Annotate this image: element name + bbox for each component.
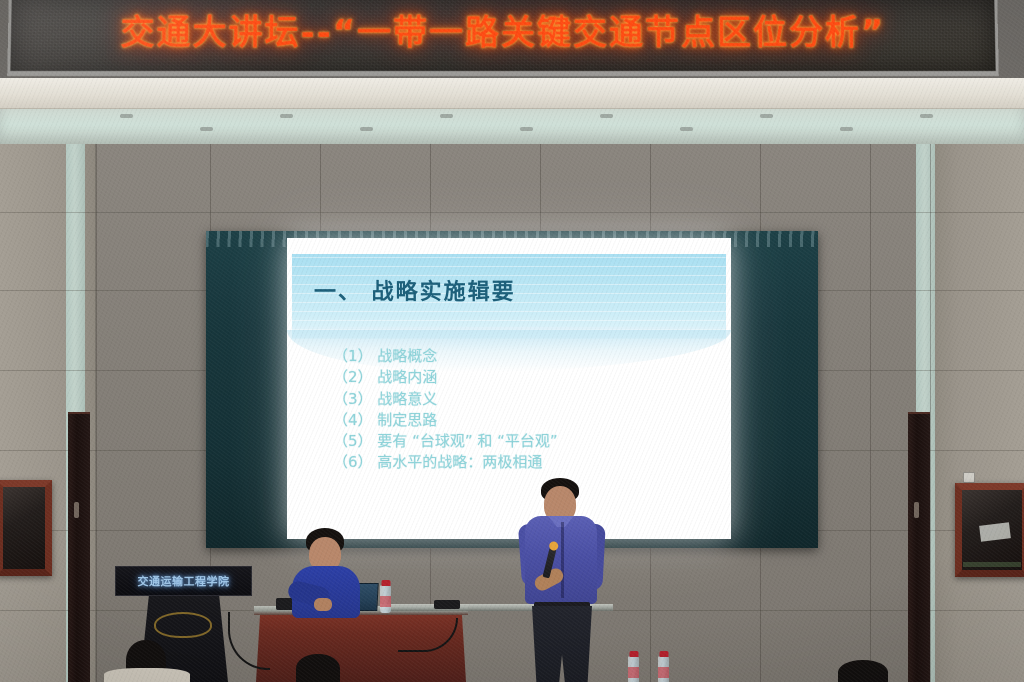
case-shelf-right (963, 562, 1021, 567)
podium-sign-text: 交通运输工程学院 (116, 567, 251, 595)
door-right[interactable] (908, 412, 930, 682)
door-handle-right-icon (914, 502, 919, 518)
slide-bullet: （4） 制定思路 (333, 410, 721, 431)
wall-seam-vertical (930, 142, 931, 682)
wall-display-case-right (955, 483, 1024, 577)
slide-bullet-list: （1） 战略概念（2） 战略内涵（3） 战略意义（4） 制定思路（5） 要有 “… (333, 346, 721, 474)
ceiling-light (760, 114, 773, 118)
slide-bullet: （3） 战略意义 (333, 389, 721, 410)
wall-seam-vertical (870, 142, 871, 682)
wall-seam-vertical (96, 142, 97, 682)
audience-head-2 (296, 654, 340, 682)
bottle-label (628, 667, 639, 678)
ceiling-light (120, 114, 133, 118)
ceiling-light (440, 114, 453, 118)
wall-display-case-left (0, 480, 52, 576)
ceiling-light (920, 114, 933, 118)
bottle-cap-icon (629, 651, 638, 657)
ceiling-light (200, 127, 213, 131)
water-bottle-floor-b (658, 656, 669, 682)
slide-bullet: （6） 高水平的战略：两极相通 (333, 452, 721, 473)
bottle-label (658, 667, 669, 678)
slide-bullet: （5） 要有 “台球观” 和 “平台观” (333, 431, 721, 452)
case-glass-left (3, 487, 45, 569)
led-banner-text: 交通大讲坛--“一带一路关键交通节点区位分析” (11, 5, 996, 54)
speaker-shirt-placket (561, 522, 564, 598)
led-banner: 交通大讲坛--“一带一路关键交通节点区位分析” (0, 0, 1024, 82)
desk-equipment-right (434, 600, 460, 609)
ceiling-light (600, 114, 613, 118)
ceiling-light (520, 127, 533, 131)
projection-screen: 一、 战略实施辑要 （1） 战略概念（2） 战略内涵（3） 战略意义（4） 制定… (287, 238, 731, 539)
door-handle-left-icon (74, 502, 79, 518)
ceiling-light (840, 127, 853, 131)
podium-emblem-icon (154, 612, 212, 638)
slide-title: 一、 战略实施辑要 (314, 274, 516, 306)
water-bottle-desk (380, 585, 391, 613)
slide-bullet: （2） 战略内涵 (333, 367, 721, 388)
podium-led-sign: 交通运输工程学院 (115, 566, 252, 596)
bottle-cap-icon (659, 651, 668, 657)
ceiling-fascia (0, 78, 1024, 108)
audience-shoulder-1 (104, 668, 190, 682)
water-bottle-floor-a (628, 656, 639, 682)
slide-title-banner: 一、 战略实施辑要 (292, 254, 726, 339)
wall-switch-right[interactable] (963, 472, 975, 483)
led-panel: 交通大讲坛--“一带一路关键交通节点区位分析” (7, 0, 999, 76)
audience-head-3 (838, 660, 888, 682)
wall-return-right (930, 142, 1024, 682)
ceiling-soffit (0, 108, 1024, 144)
lecture-hall-scene: 一、 战略实施辑要 （1） 战略概念（2） 战略内涵（3） 战略意义（4） 制定… (0, 0, 1024, 682)
ceiling-light (360, 127, 373, 131)
slide-bullet: （1） 战略概念 (333, 346, 721, 367)
ceiling-light (280, 114, 293, 118)
wall-seam-horizontal (0, 212, 1024, 213)
door-left[interactable] (68, 412, 90, 682)
ceiling-light (680, 127, 693, 131)
bottle-cap-icon (381, 580, 390, 586)
operator-hand (314, 598, 332, 611)
bottle-label (380, 596, 391, 607)
